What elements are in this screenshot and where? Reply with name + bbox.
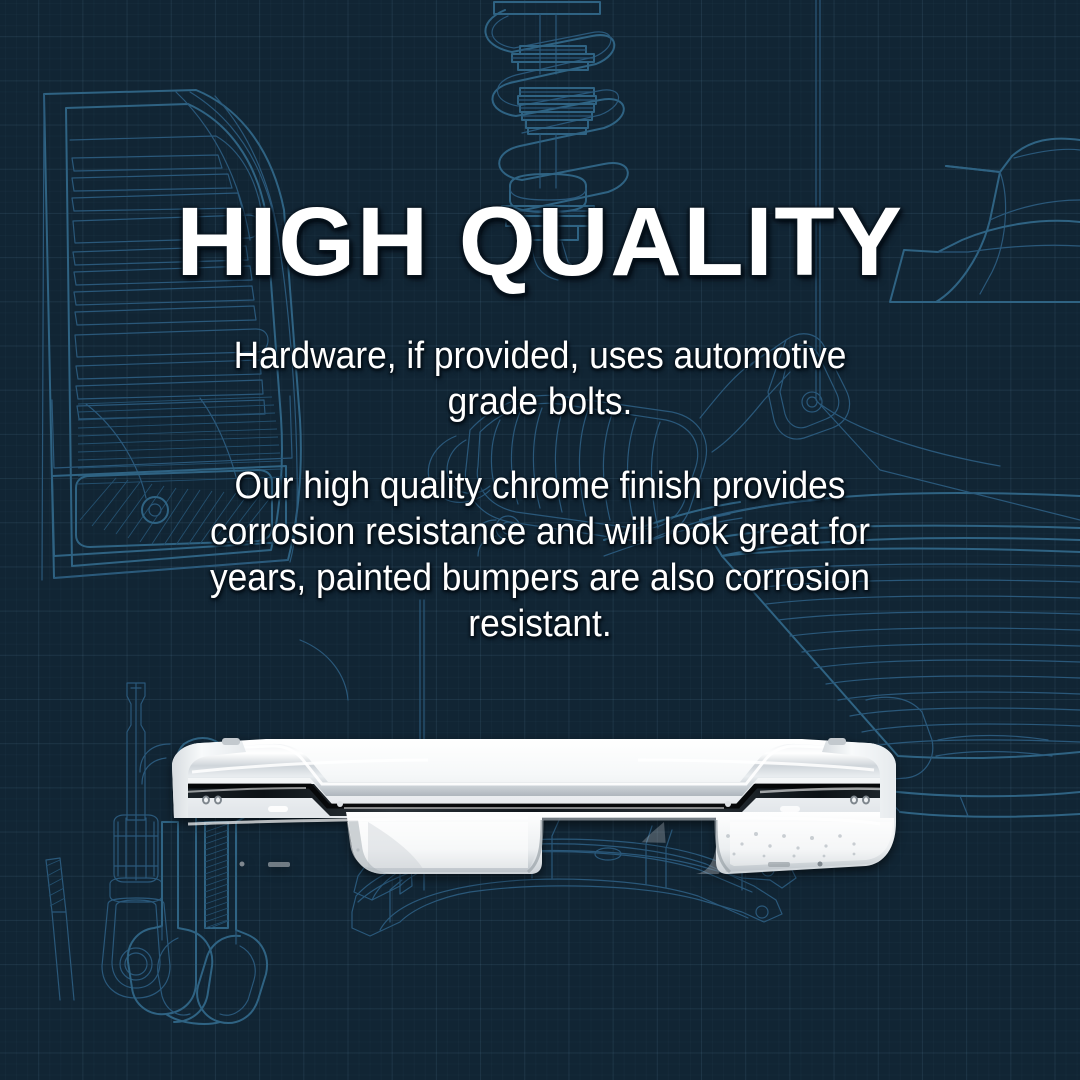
chrome-front-bumper-image [168,722,900,877]
page-title: HIGH QUALITY [0,193,1080,290]
body-paragraph-1: Hardware, if provided, uses automotive g… [187,333,894,425]
license-plate-cutout [528,818,730,877]
screwdriver-blueprint [102,683,170,998]
infographic-canvas: HIGH QUALITY Hardware, if provided, uses… [0,0,1080,1080]
body-paragraph-2: Our high quality chrome finish provides … [168,463,912,647]
